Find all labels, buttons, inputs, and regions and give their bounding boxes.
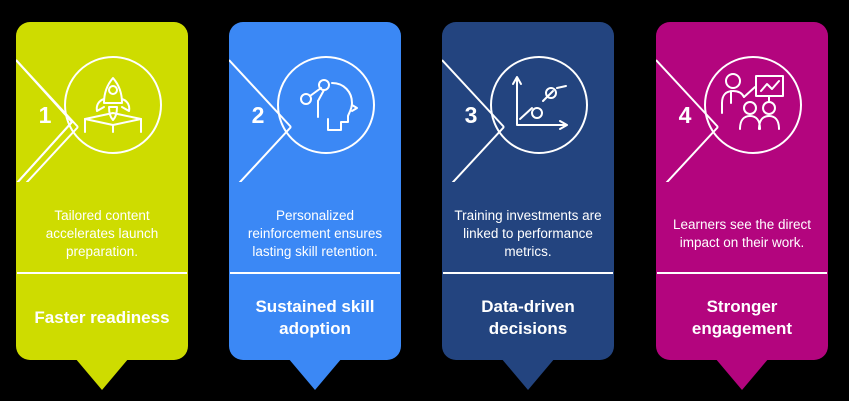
- presenter-audience-icon: [722, 74, 783, 129]
- card-divider-1: [17, 272, 187, 274]
- infographic-card-3[interactable]: 3 Training investments are linked to per…: [442, 22, 614, 360]
- card-pointer-3: [501, 358, 555, 390]
- card-divider-3: [443, 272, 613, 274]
- card-divider-4: [657, 272, 827, 274]
- card-number-3: 3: [456, 104, 486, 127]
- infographic-board: 1 Tailored content accelerates launch pr…: [0, 0, 849, 401]
- card-label-2: Sustained skill adoption: [235, 278, 395, 358]
- line-chart-axes-icon: [513, 77, 567, 129]
- card-body-3: 3 Training investments are linked to per…: [442, 22, 614, 360]
- infographic-card-2[interactable]: 2 Personalized reinforcement ensures las…: [229, 22, 401, 360]
- card-pointer-4: [715, 358, 769, 390]
- card-label-3: Data-driven decisions: [448, 278, 608, 358]
- card-label-4: Stronger engagement: [662, 278, 822, 358]
- card-pointer-1: [75, 358, 129, 390]
- card-body-2: 2 Personalized reinforcement ensures las…: [229, 22, 401, 360]
- card-body-1: 1 Tailored content accelerates launch pr…: [16, 22, 188, 360]
- card-body-4: 4 Learners see the direct impact on thei…: [656, 22, 828, 360]
- infographic-card-1[interactable]: 1 Tailored content accelerates launch pr…: [16, 22, 188, 360]
- card-pointer-2: [288, 358, 342, 390]
- card-description-4: Learners see the direct impact on their …: [664, 198, 820, 270]
- brain-network-profile-icon: [301, 80, 357, 130]
- card-number-4: 4: [670, 104, 700, 127]
- card-number-2: 2: [243, 104, 273, 127]
- infographic-card-4[interactable]: 4 Learners see the direct impact on thei…: [656, 22, 828, 360]
- card-description-2: Personalized reinforcement ensures lasti…: [237, 198, 393, 270]
- card-description-3: Training investments are linked to perfo…: [450, 198, 606, 270]
- card-label-1: Faster readiness: [22, 278, 182, 358]
- card-number-1: 1: [30, 104, 60, 127]
- card-description-1: Tailored content accelerates launch prep…: [24, 198, 180, 270]
- rocket-launch-icon: [85, 78, 141, 132]
- card-divider-2: [230, 272, 400, 274]
